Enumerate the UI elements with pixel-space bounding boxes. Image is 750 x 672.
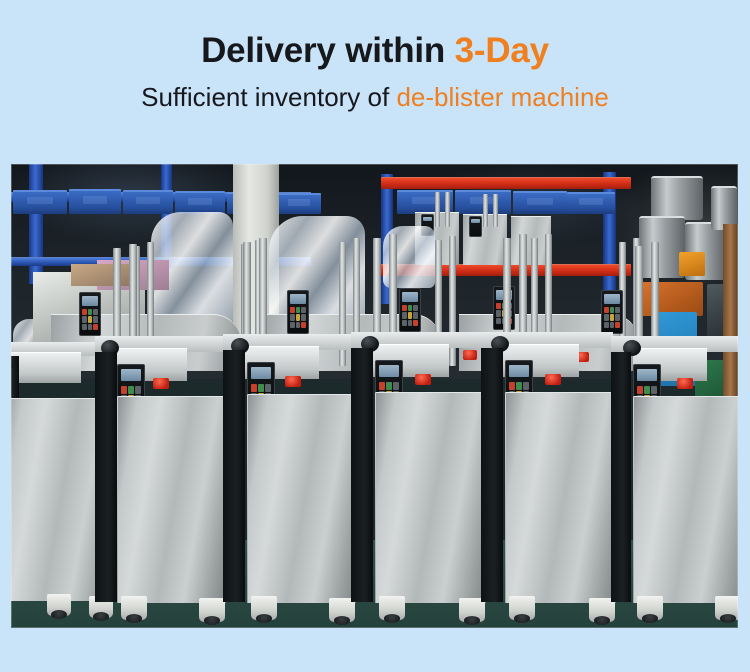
promo-banner: Delivery within 3-Day Sufficient invento… xyxy=(0,0,750,672)
caster-wheel xyxy=(251,596,277,620)
guide-post xyxy=(435,192,440,227)
panel-keypad xyxy=(402,305,417,326)
guide-post xyxy=(651,242,659,344)
red-rack-beam xyxy=(381,177,631,189)
machine-hopper xyxy=(11,352,81,383)
caster-wheel xyxy=(47,594,71,616)
page-subtitle: Sufficient inventory of de-blister machi… xyxy=(0,70,750,112)
panel-keypad xyxy=(82,309,97,330)
guide-post xyxy=(259,238,267,342)
panel-keypad xyxy=(604,307,619,328)
warehouse-scene xyxy=(11,164,738,628)
headline-block: Delivery within 3-Day Sufficient invento… xyxy=(0,0,750,164)
deblister-machine xyxy=(95,334,227,628)
guide-post xyxy=(493,194,498,227)
packaging-sack xyxy=(679,252,705,276)
control-panel xyxy=(469,216,482,237)
machine-cabinet xyxy=(505,392,616,603)
panel-display xyxy=(251,367,271,379)
storage-bin xyxy=(13,190,67,214)
subheadline-lead-text: Sufficient inventory of xyxy=(141,82,396,112)
caster-wheel xyxy=(715,596,738,620)
guide-post xyxy=(483,194,488,227)
storage-bin xyxy=(277,193,321,214)
deblister-machine xyxy=(223,332,357,628)
red-safety-cap xyxy=(545,374,561,385)
caster-wheel xyxy=(199,598,225,622)
storage-bin xyxy=(513,191,567,214)
headline-accent-text: 3-Day xyxy=(455,31,549,70)
caster-wheel xyxy=(509,596,535,620)
product-photo xyxy=(11,164,738,628)
guide-post xyxy=(373,238,381,340)
control-panel xyxy=(287,290,309,334)
panel-display xyxy=(121,369,141,381)
panel-display xyxy=(637,369,657,381)
red-safety-cap xyxy=(677,378,693,389)
panel-display xyxy=(509,365,529,377)
machine-cabinet xyxy=(247,394,356,603)
panel-keypad xyxy=(290,307,305,328)
guide-post xyxy=(635,246,643,344)
storage-bin xyxy=(123,190,173,214)
panel-display xyxy=(379,365,399,377)
panel-display xyxy=(604,294,619,303)
control-panel xyxy=(399,288,421,332)
storage-bin xyxy=(175,191,225,214)
cabinet-side xyxy=(351,348,373,602)
guide-post xyxy=(389,234,397,340)
red-safety-cap xyxy=(415,374,431,385)
stainless-drum xyxy=(651,176,703,220)
storage-bin xyxy=(567,192,615,214)
cabinet-side xyxy=(95,352,117,602)
machine-cabinet xyxy=(633,396,738,603)
caster-wheel xyxy=(379,596,405,620)
deblister-machine xyxy=(351,330,487,628)
blue-rack-upright xyxy=(29,164,43,284)
panel-display xyxy=(402,292,417,301)
control-panel xyxy=(601,290,623,334)
headline-lead-text: Delivery within xyxy=(201,31,455,70)
storage-bin xyxy=(69,189,121,214)
subheadline-accent-text: de-blister machine xyxy=(396,82,608,112)
deblister-machine xyxy=(611,334,738,628)
machine-cabinet xyxy=(375,392,486,603)
panel-display xyxy=(82,296,97,305)
guide-post xyxy=(113,248,121,344)
guide-post xyxy=(519,234,527,340)
carton-stack xyxy=(71,264,135,286)
cabinet-side xyxy=(611,352,631,602)
control-panel xyxy=(79,292,101,336)
guide-post xyxy=(445,192,450,227)
caster-wheel xyxy=(121,596,147,620)
deblister-machine xyxy=(481,330,617,628)
panel-display xyxy=(471,219,479,223)
guide-post xyxy=(503,238,511,340)
guide-post xyxy=(129,244,137,344)
cabinet-side xyxy=(223,350,245,602)
caster-wheel xyxy=(637,596,663,620)
panel-display xyxy=(423,217,431,221)
guide-post xyxy=(243,242,251,342)
panel-display xyxy=(290,294,305,303)
cabinet-side xyxy=(481,348,503,602)
red-safety-cap xyxy=(285,376,301,387)
page-title: Delivery within 3-Day xyxy=(0,0,750,70)
red-safety-cap xyxy=(153,378,169,389)
machine-cabinet xyxy=(117,396,226,603)
